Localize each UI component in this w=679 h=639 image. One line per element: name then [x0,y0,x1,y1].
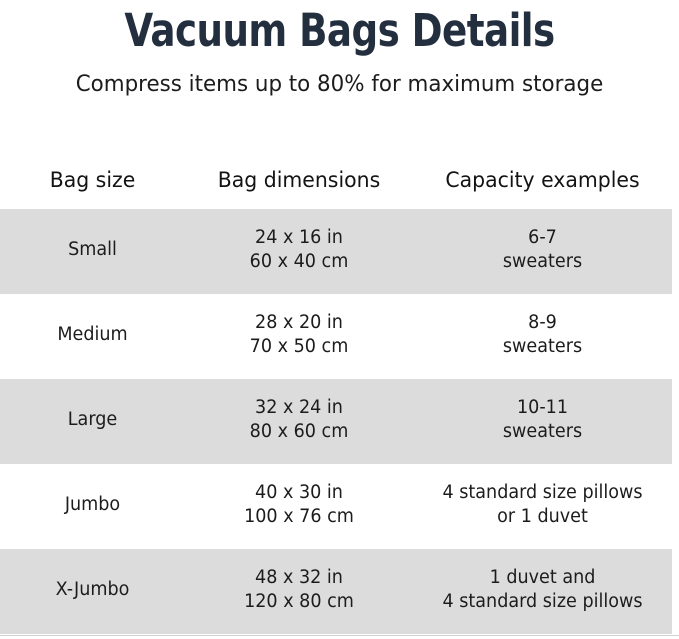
table-row: Small 24 x 16 in 60 x 40 cm 6-7 sweaters [0,209,672,294]
column-header-capacity-examples: Capacity examples [419,168,665,194]
table-row: Medium 28 x 20 in 70 x 50 cm 8-9 sweater… [0,294,672,379]
specs-table: Bag size Bag dimensions Capacity example… [0,152,679,634]
cell-capacity-examples: 4 standard size pillows or 1 duvet [419,483,665,531]
cell-bag-dimensions: 40 x 30 in 100 x 76 cm [191,483,408,531]
cell-bag-size: Large [5,410,181,434]
dimensions-inches: 40 x 30 in [191,481,408,505]
capacity-line-2: 4 standard size pillows [419,590,665,614]
cell-bag-dimensions: 24 x 16 in 60 x 40 cm [191,228,408,276]
capacity-line-2: sweaters [419,420,665,444]
cell-bag-size: X-Jumbo [5,580,181,604]
cell-capacity-examples: 10-11 sweaters [419,398,665,446]
cell-bag-dimensions: 28 x 20 in 70 x 50 cm [191,313,408,361]
capacity-line-1: 1 duvet and [419,566,665,590]
capacity-line-1: 6-7 [419,226,665,250]
dimensions-inches: 32 x 24 in [191,396,408,420]
capacity-line-2: sweaters [419,250,665,274]
cell-capacity-examples: 1 duvet and 4 standard size pillows [419,568,665,616]
cell-capacity-examples: 6-7 sweaters [419,228,665,276]
cell-bag-size: Jumbo [5,495,181,519]
table-row: Jumbo 40 x 30 in 100 x 76 cm 4 standard … [0,464,672,549]
cell-capacity-examples: 8-9 sweaters [419,313,665,361]
cell-bag-size: Small [5,240,181,264]
bag-size-value: Large [5,408,181,432]
dimensions-inches: 24 x 16 in [191,226,408,250]
column-header-bag-dimensions: Bag dimensions [191,168,408,194]
table-bottom-rule [0,635,679,636]
bag-size-value: X-Jumbo [5,578,181,602]
page-header: Vacuum Bags Details Compress items up to… [0,0,679,98]
page-title: Vacuum Bags Details [27,4,652,58]
capacity-line-2: or 1 duvet [419,505,665,529]
dimensions-centimeters: 60 x 40 cm [191,250,408,274]
dimensions-centimeters: 100 x 76 cm [191,505,408,529]
table-header-row: Bag size Bag dimensions Capacity example… [0,152,672,209]
page-subtitle: Compress items up to 80% for maximum sto… [17,70,662,98]
capacity-line-1: 4 standard size pillows [419,481,665,505]
table-row: Large 32 x 24 in 80 x 60 cm 10-11 sweate… [0,379,672,464]
dimensions-inches: 28 x 20 in [191,311,408,335]
capacity-line-1: 8-9 [419,311,665,335]
dimensions-centimeters: 70 x 50 cm [191,335,408,359]
cell-bag-size: Medium [5,325,181,349]
bag-size-value: Medium [5,323,181,347]
dimensions-centimeters: 80 x 60 cm [191,420,408,444]
dimensions-centimeters: 120 x 80 cm [191,590,408,614]
column-header-bag-size: Bag size [5,168,181,194]
cell-bag-dimensions: 48 x 32 in 120 x 80 cm [191,568,408,616]
vacuum-bags-details-page: Vacuum Bags Details Compress items up to… [0,0,679,639]
dimensions-inches: 48 x 32 in [191,566,408,590]
bag-size-value: Jumbo [5,493,181,517]
bag-size-value: Small [5,238,181,262]
table-row: X-Jumbo 48 x 32 in 120 x 80 cm 1 duvet a… [0,549,672,634]
capacity-line-2: sweaters [419,335,665,359]
capacity-line-1: 10-11 [419,396,665,420]
cell-bag-dimensions: 32 x 24 in 80 x 60 cm [191,398,408,446]
